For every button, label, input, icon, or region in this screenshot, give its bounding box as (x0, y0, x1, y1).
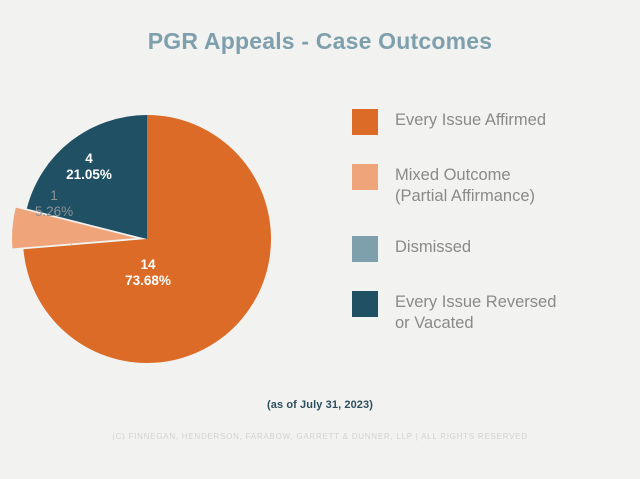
legend-label-every-issue-affirmed: Every Issue Affirmed (395, 108, 546, 131)
legend-swatch-dismissed (352, 236, 378, 262)
as-of-note: (as of July 31, 2023) (0, 399, 640, 411)
pie-label-reversed-count: 4 (85, 151, 93, 166)
legend-label-dismissed: Dismissed (395, 235, 471, 258)
legend-label-line1: Mixed Outcome (395, 166, 511, 184)
legend-item-every-issue-affirmed[interactable]: Every Issue Affirmed (352, 108, 622, 135)
pie-label-mixed-count: 1 (50, 188, 58, 203)
pie-label-affirmed-percent: 73.68% (125, 273, 171, 288)
legend-swatch-mixed-outcome (352, 164, 378, 190)
copyright-notice: (C) FINNEGAN, HENDERSON, FARABOW, GARRET… (0, 432, 640, 441)
pie-chart: 14 73.68% 4 21.05% 1 5.26% (0, 95, 340, 385)
pie-label-mixed-percent: 5.26% (35, 204, 73, 219)
legend-label-line2: (Partial Affirmance) (395, 186, 535, 207)
chart-card: PGR Appeals - Case Outcomes 14 73.68% 4 … (0, 0, 640, 479)
legend-label-mixed-outcome: Mixed Outcome (Partial Affirmance) (395, 163, 535, 207)
legend-label-every-issue-reversed: Every Issue Reversed or Vacated (395, 290, 556, 334)
legend: Every Issue Affirmed Mixed Outcome (Part… (352, 108, 622, 362)
legend-item-every-issue-reversed[interactable]: Every Issue Reversed or Vacated (352, 290, 622, 334)
legend-label-line1: Dismissed (395, 238, 471, 256)
legend-label-line1: Every Issue Reversed (395, 293, 556, 311)
legend-item-mixed-outcome[interactable]: Mixed Outcome (Partial Affirmance) (352, 163, 622, 207)
pie-label-reversed-percent: 21.05% (66, 167, 112, 182)
legend-swatch-every-issue-reversed (352, 291, 378, 317)
pie-label-affirmed-count: 14 (140, 257, 156, 272)
chart-title: PGR Appeals - Case Outcomes (0, 28, 640, 55)
legend-label-line1: Every Issue Affirmed (395, 111, 546, 129)
legend-label-line2: or Vacated (395, 313, 556, 334)
legend-swatch-every-issue-affirmed (352, 109, 378, 135)
pie-chart-svg: 14 73.68% 4 21.05% 1 5.26% (0, 95, 340, 385)
legend-item-dismissed[interactable]: Dismissed (352, 235, 622, 262)
